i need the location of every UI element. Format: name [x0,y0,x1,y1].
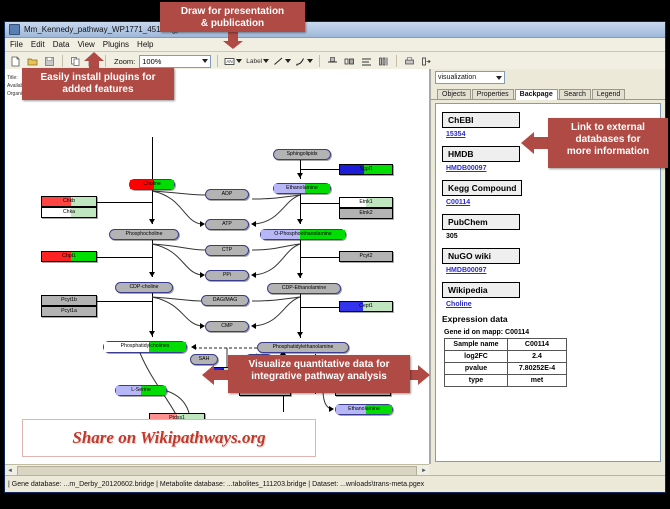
db-header-kegg: Kegg Compound [442,180,522,196]
canvas-info-title: Title: [7,75,18,81]
arrow-icon [329,406,334,412]
callout-arrow-down-icon [222,32,244,54]
callout-external-links: Link to external databases for more info… [548,118,668,168]
menu-item-data[interactable]: Data [53,40,70,49]
copy-icon[interactable] [69,55,82,68]
share-text: Share on Wikipathways.org [72,428,265,448]
toolbar-separator [62,55,63,67]
menu-item-help[interactable]: Help [137,40,153,49]
callout-install-plugins: Easily install plugins for added feature… [22,68,174,100]
node-chka[interactable]: Chka [41,207,97,218]
node-cept1[interactable]: Cept1 [339,301,393,312]
tab-search[interactable]: Search [559,89,591,99]
screenshot-root: Mm_Kennedy_pathway_WP1771_45176.gpml Fil… [0,0,670,509]
print-icon[interactable] [403,55,416,68]
chevron-down-icon [307,59,313,63]
zoom-select[interactable]: 100% [139,55,211,68]
node-atp[interactable]: ATP [205,219,249,230]
node-o-phosphoethanolamine[interactable]: O-Phosphoethanolamine [260,229,346,240]
menu-item-file[interactable]: File [10,40,23,49]
canvas-info-avail: Availab [7,83,23,89]
node-ethanolamine-lower[interactable]: Ethanolamine [335,404,393,415]
zoom-label: Zoom: [114,57,135,66]
callout-draw-for-publication: Draw for presentation & publication [160,2,305,32]
svg-text:AN: AN [227,59,233,64]
chevron-down-icon [496,76,502,80]
title-bar: Mm_Kennedy_pathway_WP1771_45176.gpml [5,22,665,38]
node-l-serine-left[interactable]: L-Serine [115,385,167,396]
expression-table: Sample name C00114 log2FC 2.4 pvalue 7.8… [444,338,567,387]
arrow-icon [191,344,196,350]
menu-item-view[interactable]: View [78,40,95,49]
node-ethanolamine-upper[interactable]: Ethanolamine [273,183,331,194]
cell-key: log2FC [445,351,508,363]
arrow-icon [297,273,303,278]
node-pcyt2[interactable]: Pcyt2 [339,251,393,262]
db-link-wikipedia[interactable]: Choline [446,301,660,308]
db-value-pubchem: 305 [446,233,660,240]
tab-backpage[interactable]: Backpage [515,89,558,100]
arrow-icon [149,331,155,336]
toolbar-separator [396,55,397,67]
arrow-icon [297,332,303,337]
chevron-down-icon [202,59,208,63]
menu-bar: File Edit Data View Plugins Help [5,38,665,52]
edge-segment [300,203,340,204]
node-pcyt1b[interactable]: Pcyt1b [41,295,97,306]
chevron-down-icon [236,59,242,63]
open-folder-icon[interactable] [26,55,39,68]
distribute-tool-icon[interactable] [360,55,373,68]
db-link-kegg[interactable]: C00114 [446,199,660,206]
cell-value: met [508,375,567,387]
tab-objects[interactable]: Objects [437,89,471,99]
arrow-icon [149,219,155,224]
toolbar-separator [319,55,320,67]
node-chpt1[interactable]: Chpt1 [41,251,97,262]
node-phosphatidylcholines[interactable]: Phosphatidylcholines [103,341,187,353]
expression-heading: Expression data [442,314,660,324]
cell-value: C00114 [508,339,567,351]
datanode-tool[interactable]: AN [224,56,242,67]
node-phosphatidylethanolamine[interactable]: Phosphatidylethanolamine [257,342,349,353]
scrollbar-thumb[interactable] [17,466,417,476]
node-ppi[interactable]: PPi [205,270,249,281]
line-tool[interactable] [273,56,291,67]
pathway-canvas[interactable]: Title: Availab Organis [5,69,431,464]
node-dag-mag[interactable]: DAG/MAG [201,295,249,306]
arrow-icon [251,323,256,329]
scroll-right-icon[interactable]: ► [419,468,429,474]
node-cdp-choline[interactable]: CDP-choline [115,282,173,293]
db-header-chebi: ChEBI [442,112,520,128]
cell-value: 2.4 [508,351,567,363]
cell-key: pvalue [445,363,508,375]
label-tool-text: Label [246,58,262,65]
align-tool-icon[interactable] [326,55,339,68]
app-icon [9,24,20,35]
arrow-icon [297,173,303,178]
table-row: Sample name C00114 [445,339,567,351]
visualization-value: visualization [438,74,476,81]
edge-segment [97,301,152,302]
chevron-down-icon [263,59,269,63]
callout-text: Draw for presentation & publication [181,6,284,29]
edge-segment [300,257,340,258]
node-pcyt1a[interactable]: Pcyt1a [41,306,97,317]
db-header-nugo: NuGO wiki [442,248,520,264]
cell-key: type [445,375,508,387]
callout-visualize-data: Visualize quantitative data for integrat… [228,355,410,393]
arrow-icon [149,272,155,277]
scroll-left-icon[interactable]: ◄ [5,468,15,474]
panel-tabs: Objects Properties Backpage Search Legen… [431,86,665,100]
node-chkb[interactable]: Chkb [41,196,97,207]
table-row: pvalue 7.80252E-4 [445,363,567,375]
callout-text: Link to external databases for more info… [567,122,649,157]
node-cdp-ethanolamine[interactable]: CDP-Ethanolamine [267,283,341,294]
db-header-wikipedia: Wikipedia [442,282,520,298]
cell-value: 7.80252E-4 [508,363,567,375]
menu-item-edit[interactable]: Edit [31,40,45,49]
cell-key: Sample name [445,339,508,351]
db-header-hmdb: HMDB [442,146,520,162]
node-ctp[interactable]: CTP [205,245,249,256]
edge-segment [97,202,152,203]
node-cmp[interactable]: CMP [205,321,249,332]
callout-arrow-left-icon [521,128,551,163]
db-header-pubchem: PubChem [442,214,520,230]
node-phosphocholine[interactable]: Phosphocholine [109,229,179,240]
node-sgpl1[interactable]: Sgpl1 [339,164,393,175]
arrow-icon [251,221,256,227]
menu-item-plugins[interactable]: Plugins [103,40,129,49]
status-bar: | Gene database: ...m_Derby_20120602.bri… [5,475,665,492]
chevron-down-icon [285,59,291,63]
node-choline-top[interactable]: Choline [129,179,175,190]
callout-share-wikipathways: Share on Wikipathways.org [22,419,316,457]
arrow-icon [251,272,256,278]
callout-text: Visualize quantitative data for integrat… [249,359,390,382]
save-icon[interactable] [43,55,56,68]
table-row: type met [445,375,567,387]
edge-segment [300,169,340,170]
group-tool-icon[interactable] [343,55,356,68]
edge-segment [300,307,340,308]
tab-legend[interactable]: Legend [592,89,625,99]
zoom-value: 100% [142,57,161,66]
status-text: | Gene database: ...m_Derby_20120602.bri… [5,481,424,488]
node-etnk1[interactable]: Etnk1 [339,197,393,208]
toolbar-separator [217,55,218,67]
stack-tool-icon[interactable] [377,55,390,68]
node-etnk2[interactable]: Etnk2 [339,208,393,219]
visualization-select[interactable]: visualization [435,71,505,84]
node-sphingolipids[interactable]: Sphingolipids [273,149,331,160]
db-link-nugo[interactable]: HMDB00097 [446,267,660,274]
label-tool[interactable]: Label [246,58,269,65]
callout-text: Easily install plugins for added feature… [40,72,155,95]
tab-properties[interactable]: Properties [472,89,514,99]
edge-segment [97,257,152,258]
new-file-icon[interactable] [9,55,22,68]
export-icon[interactable] [420,55,433,68]
gene-id-line: Gene id on mapp: C00114 [444,329,660,336]
arc-tool[interactable] [295,56,313,67]
visualization-row: visualization [431,69,665,86]
arrow-icon [297,219,303,224]
node-adp[interactable]: ADP [205,189,249,200]
table-row: log2FC 2.4 [445,351,567,363]
